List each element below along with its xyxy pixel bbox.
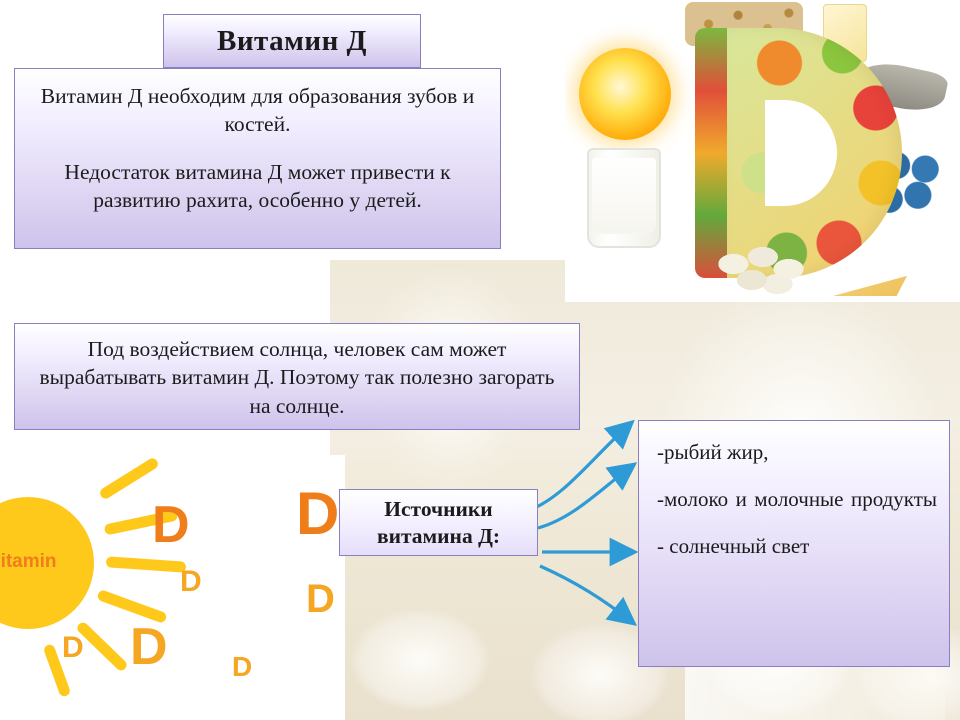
sun-photo-icon (579, 48, 671, 140)
letter-d-medium: D (306, 577, 335, 622)
sources-list-box: -рыбий жир, -молоко и молочные продукты … (638, 420, 950, 667)
sun-synthesis-paragraph: Под воздействием солнца, человек сам мож… (35, 335, 559, 420)
letter-d-large: D (130, 617, 168, 677)
sources-label-line-2: витамина Д: (377, 523, 500, 549)
sun-synthesis-box: Под воздействием солнца, человек сам мож… (14, 323, 580, 430)
sun-clipart: vitamin D D D D D D D (0, 455, 345, 720)
definition-paragraph-2: Недостаток витамина Д может привести к р… (31, 159, 484, 215)
arrow-to-item-1 (530, 424, 630, 510)
slide-canvas: vitamin D D D D D D D Витамин Д (0, 0, 960, 720)
sources-list-item-2: -молоко и молочные продукты (657, 486, 937, 513)
sources-list-item-3: - солнечный свет (657, 533, 937, 560)
letter-d-small: D (62, 631, 84, 665)
beans-image (715, 244, 807, 294)
sources-label-line-1: Источники (384, 496, 492, 522)
letter-d-food-arrangement (695, 28, 905, 278)
milk-glass-image (587, 148, 661, 248)
letter-d-large: D (296, 479, 339, 548)
letter-d-large: D (152, 495, 190, 555)
sun-ray (106, 556, 187, 573)
sources-label-box: Источники витамина Д: (339, 489, 538, 556)
sun-ray (98, 456, 160, 500)
page-title: Витамин Д (163, 14, 421, 68)
arrow-to-item-4 (540, 566, 632, 622)
sun-circle: vitamin (0, 497, 94, 629)
sources-list-item-1: -рыбий жир, (657, 439, 937, 466)
letter-d-small: D (180, 565, 202, 599)
sun-vitamin-label: vitamin (0, 551, 57, 573)
definition-box: Витамин Д необходим для образования зубо… (14, 68, 501, 249)
vitamin-d-food-photo (565, 0, 960, 302)
letter-d-small: D (232, 651, 252, 683)
definition-paragraph-1: Витамин Д необходим для образования зубо… (31, 83, 484, 139)
